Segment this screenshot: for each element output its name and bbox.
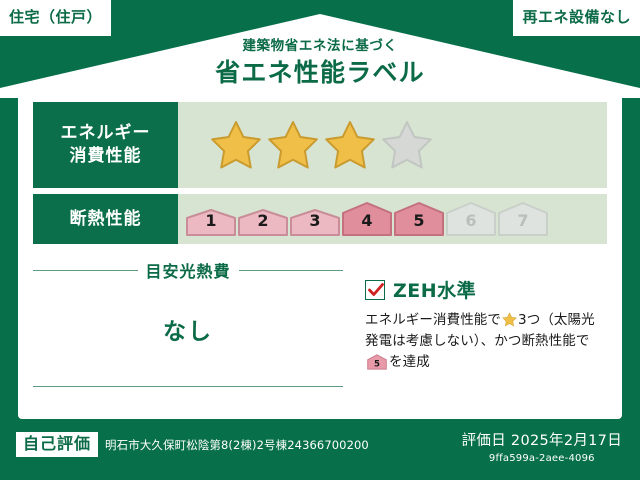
insulation-grade-value: 4 xyxy=(342,211,392,230)
star-icon-filled xyxy=(267,119,319,171)
insulation-grade-value: 6 xyxy=(446,211,496,230)
energy-cost-bottom-rule xyxy=(33,386,343,387)
evaluation-date: 評価日 2025年2月17日 xyxy=(462,429,622,450)
insulation-grade-6: 6 xyxy=(446,202,496,236)
insulation-grade-badge-inline: 5 xyxy=(367,354,387,370)
insulation-grade-value: 7 xyxy=(498,211,548,230)
label-footer: 自己評価 明石市大久保町松陰第8(2棟)2号棟24366700200 評価日 2… xyxy=(0,419,640,480)
insulation-grade-7: 7 xyxy=(498,202,548,236)
insulation-performance-label-cell: 断熱性能 xyxy=(33,194,178,244)
insulation-performance-value-cell: 1234567 xyxy=(178,194,607,244)
insulation-grade-value: 1 xyxy=(186,211,236,230)
self-evaluation-badge: 自己評価 xyxy=(16,432,98,457)
star-icon-filled xyxy=(324,119,376,171)
heading-rule-left xyxy=(33,270,138,271)
check-icon xyxy=(367,281,385,299)
heading-rule-right xyxy=(239,270,344,271)
insulation-grade-2: 2 xyxy=(238,209,288,236)
energy-cost-panel: 目安光熱費 なし xyxy=(33,254,343,409)
insulation-grade-value: 2 xyxy=(238,211,288,230)
insulation-performance-row: 断熱性能 1234567 xyxy=(33,194,607,244)
insulation-grade-1: 1 xyxy=(186,209,236,236)
energy-performance-row: エネルギー 消費性能 xyxy=(33,102,607,188)
energy-performance-label-cell: エネルギー 消費性能 xyxy=(33,102,178,188)
label-title: 建築物省エネ法に基づく 省エネ性能ラベル xyxy=(0,38,640,88)
zeh-desc-part1: エネルギー消費性能で xyxy=(365,312,501,328)
insulation-grade-scale: 1234567 xyxy=(186,202,548,236)
energy-cost-heading-text: 目安光熱費 xyxy=(146,258,231,282)
insulation-grade-4: 4 xyxy=(342,202,392,236)
star-icon-inline xyxy=(502,312,517,327)
renewable-energy-tag: 再エネ設備なし xyxy=(513,0,640,36)
title-main: 省エネ性能ラベル xyxy=(0,57,640,88)
zeh-desc-part2: は考慮しない）、かつ断熱性能で xyxy=(392,333,589,349)
svg-text:5: 5 xyxy=(374,359,380,369)
energy-cost-heading: 目安光熱費 xyxy=(33,258,343,282)
insulation-grade-5: 5 xyxy=(394,202,444,236)
energy-cost-value: なし xyxy=(33,312,343,346)
energy-performance-label: 住宅（住戸） 再エネ設備なし 建築物省エネ法に基づく 省エネ性能ラベル エネルギ… xyxy=(0,0,640,480)
star-icon-filled xyxy=(210,119,262,171)
footer-left-group: 自己評価 明石市大久保町松陰第8(2棟)2号棟24366700200 xyxy=(16,432,369,457)
zeh-heading: ZEH水準 xyxy=(365,276,607,303)
energy-label-line1: エネルギー xyxy=(61,122,151,145)
energy-label-line2: 消費性能 xyxy=(61,145,151,168)
zeh-description: エネルギー消費性能で3つ（太陽光発電は考慮しない）、かつ断熱性能で5を達成 xyxy=(365,310,607,373)
energy-performance-value-cell xyxy=(178,102,607,188)
card-lower-section: 目安光熱費 なし ZEH水準 エネルギー消費性能で3つ（太陽光発電は考慮しな xyxy=(33,254,607,409)
title-subtitle: 建築物省エネ法に基づく xyxy=(0,38,640,54)
insulation-grade-3: 3 xyxy=(290,209,340,236)
star-rating xyxy=(210,119,433,171)
star-icon-empty xyxy=(381,119,433,171)
insulation-grade-value: 3 xyxy=(290,211,340,230)
zeh-desc-part3: を達成 xyxy=(389,354,430,370)
building-type-tag: 住宅（住戸） xyxy=(0,0,111,36)
zeh-checkbox[interactable] xyxy=(365,280,385,300)
zeh-title: ZEH水準 xyxy=(393,276,476,303)
property-address: 明石市大久保町松陰第8(2棟)2号棟24366700200 xyxy=(105,437,369,453)
zeh-panel: ZEH水準 エネルギー消費性能で3つ（太陽光発電は考慮しない）、かつ断熱性能で5… xyxy=(343,254,607,409)
evaluation-id: 9ffa599a-2aee-4096 xyxy=(462,453,622,464)
insulation-grade-value: 5 xyxy=(394,211,444,230)
label-card: エネルギー 消費性能 断熱性能 1234567 目安光熱費 xyxy=(18,88,622,419)
footer-right-group: 評価日 2025年2月17日 9ffa599a-2aee-4096 xyxy=(462,429,622,464)
